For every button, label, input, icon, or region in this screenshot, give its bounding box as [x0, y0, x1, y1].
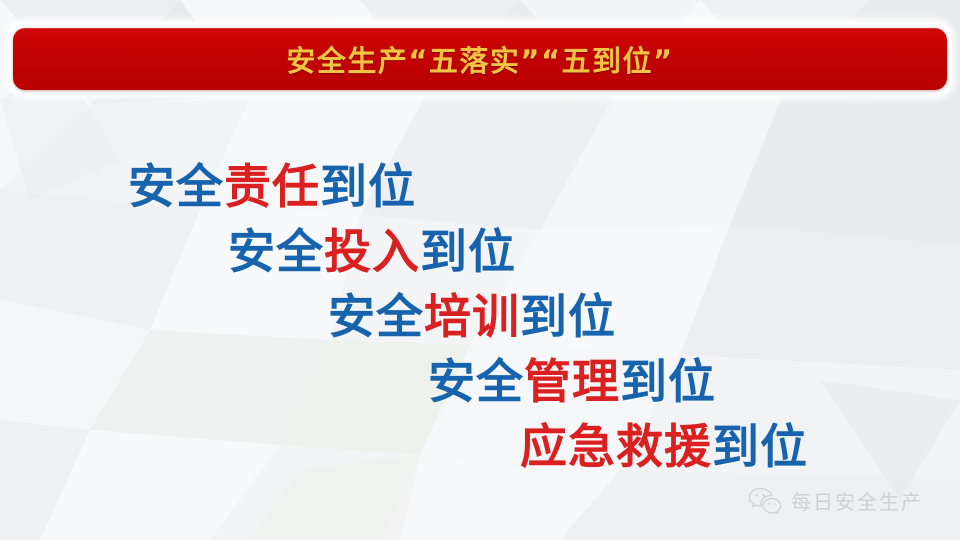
slogan-segment-highlight: 培训: [424, 290, 520, 345]
slogan-segment: 到位: [520, 290, 616, 345]
slogan-segment: 到位: [320, 160, 416, 215]
slogan-line-3: 安全培训到位: [328, 294, 616, 341]
slogan-segment: 到位: [620, 355, 716, 410]
slogan-line-5: 应急救援到位: [520, 424, 808, 471]
slogan-segment: 安全: [328, 290, 424, 345]
watermark: 每日安全生产: [748, 486, 923, 515]
slogan-segment-highlight: 责任: [224, 160, 320, 215]
slogan-segment: 安全: [228, 225, 324, 280]
slogan-line-2: 安全投入到位: [228, 229, 516, 276]
slogan-segment: 安全: [128, 160, 224, 215]
wechat-icon: [748, 487, 782, 514]
slogan-line-1: 安全责任到位: [128, 164, 416, 211]
slogan-segment: 到位: [420, 225, 516, 280]
slogan-list: 安全责任到位 安全投入到位 安全培训到位 安全管理到位 应急救援到位: [0, 150, 960, 490]
slogan-segment: 安全: [428, 355, 524, 410]
slogan-segment-highlight: 应急救援: [520, 420, 712, 475]
title-banner: 安全生产“五落实”“五到位”: [13, 28, 947, 90]
watermark-label: 每日安全生产: [791, 486, 923, 515]
slogan-segment-highlight: 管理: [524, 355, 620, 410]
slogan-segment-highlight: 投入: [324, 225, 420, 280]
slogan-segment: 到位: [712, 420, 808, 475]
page-title: 安全生产“五落实”“五到位”: [286, 38, 673, 80]
slide-canvas: 安全生产“五落实”“五到位” 安全责任到位 安全投入到位 安全培训到位 安全管理…: [0, 0, 960, 540]
slogan-line-4: 安全管理到位: [428, 359, 716, 406]
